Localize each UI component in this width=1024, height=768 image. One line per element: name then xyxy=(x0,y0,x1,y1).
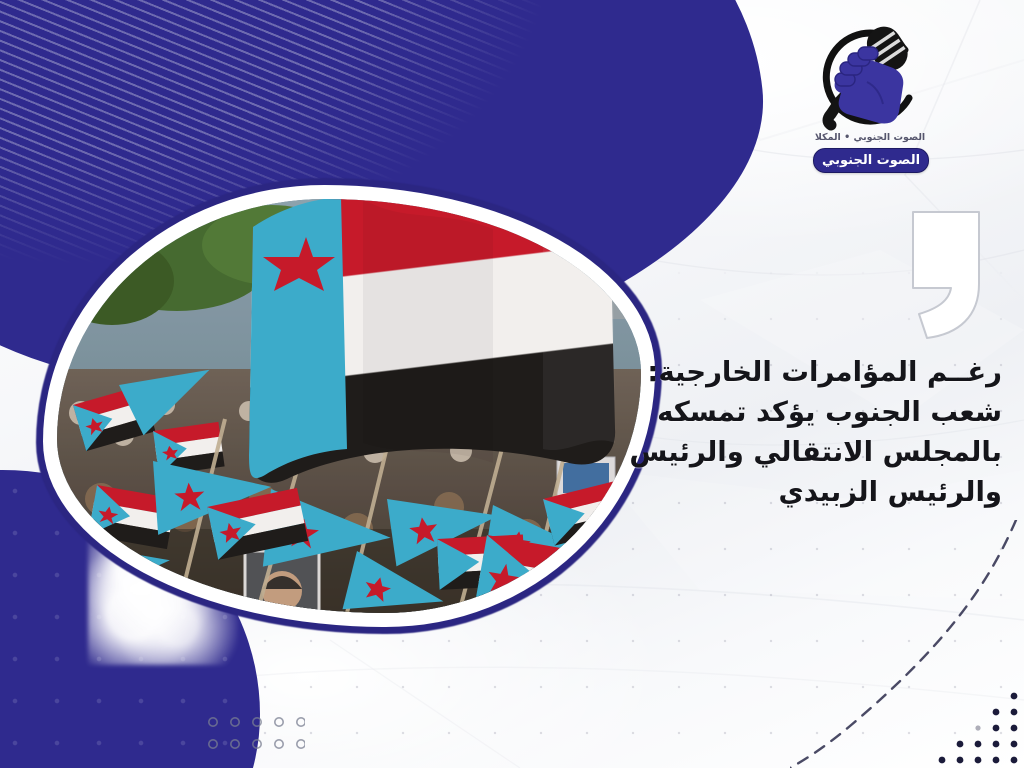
circle-dot-grid-decoration xyxy=(205,712,305,758)
headline-line-1: رغــم المؤامرات الخارجية: xyxy=(572,352,1002,392)
logo-subtitle: الصوت الجنوبي • المكلا xyxy=(795,132,945,143)
headline-line-3: بالمجلس الانتقالي والرئيس xyxy=(572,432,1002,472)
dashed-curve-line xyxy=(790,520,1024,768)
photo-mask xyxy=(57,199,641,613)
brand-logo[interactable]: الصوت الجنوبي • المكلا الصوت الجنوبي xyxy=(795,24,945,176)
hero-photo xyxy=(44,186,654,626)
poster-canvas: رغــم المؤامرات الخارجية: شعب الجنوب يؤك… xyxy=(0,0,1024,768)
crowd-with-flags-photo xyxy=(57,199,641,613)
fist-holding-microphone-icon xyxy=(809,24,929,136)
logo-wordmark: الصوت الجنوبي xyxy=(813,148,929,173)
page-title: رغــم المؤامرات الخارجية: شعب الجنوب يؤك… xyxy=(572,352,1002,513)
headline-line-2: شعب الجنوب يؤكد تمسكه xyxy=(572,392,1002,432)
headline-line-4: والرئيس الزبيدي xyxy=(572,472,1002,512)
quotation-comma-icon xyxy=(905,208,987,340)
